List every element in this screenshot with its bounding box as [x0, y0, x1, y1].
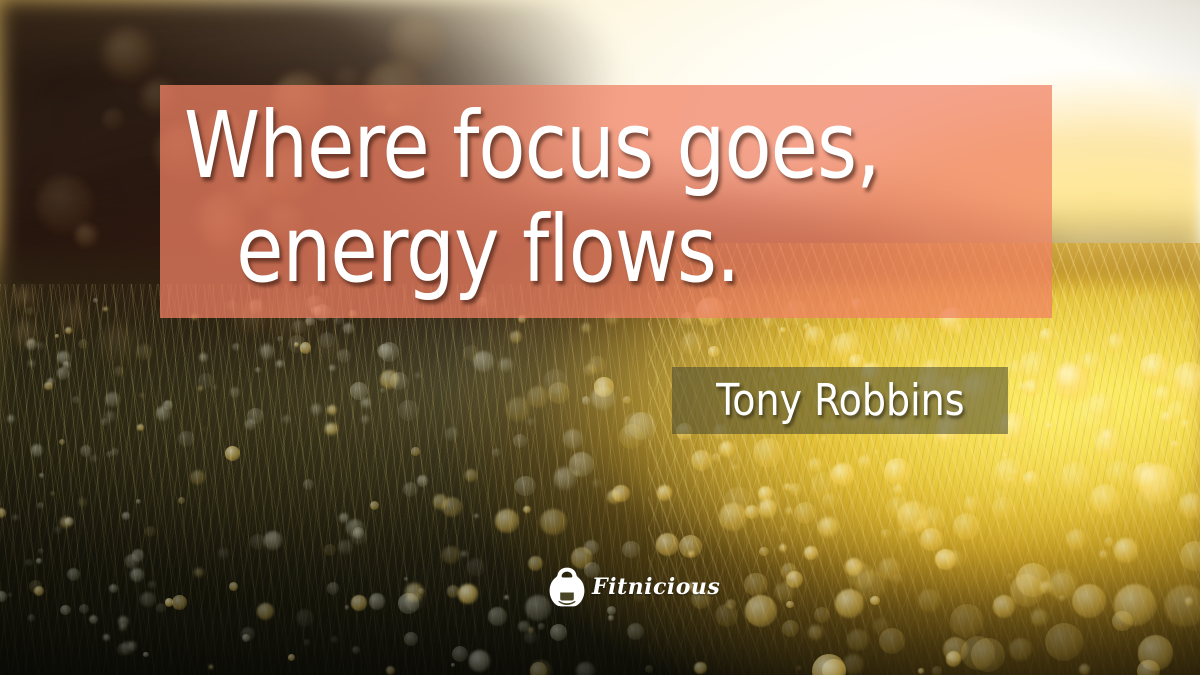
kettlebell-icon — [548, 566, 586, 608]
attribution-band: Tony Robbins — [672, 367, 1008, 434]
quote-band: Where focus goes, energy flows. — [160, 85, 1052, 318]
quote-line-2: energy flows. — [184, 198, 969, 302]
quote-image-canvas: Where focus goes, energy flows. Tony Rob… — [0, 0, 1200, 675]
quote-line-1: Where focus goes, — [184, 94, 969, 198]
quote-author: Tony Robbins — [716, 378, 964, 424]
brand-logo: Fitnicious — [548, 565, 720, 609]
brand-wordmark: Fitnicious — [592, 574, 720, 600]
